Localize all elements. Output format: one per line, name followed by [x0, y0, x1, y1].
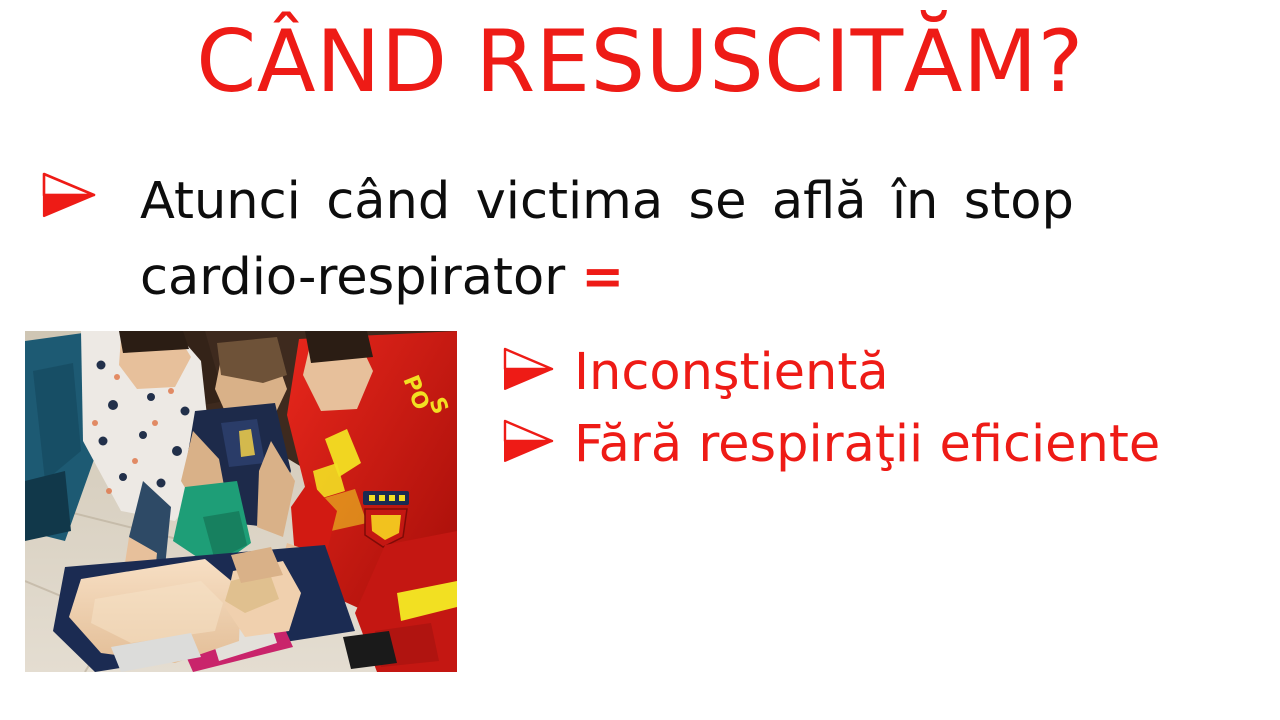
- sub-bullet-label: Fără respiraţii eficiente: [574, 410, 1280, 480]
- main-bullet-line1: Atunci când victima se află în stop: [140, 172, 1074, 231]
- cpr-training-photo: PO S: [25, 331, 457, 672]
- sub-bullet-item-fara-respiratii: Fără respiraţii eficiente: [492, 410, 1280, 482]
- slide: CÂND RESUSCITĂM? Atunci când victima se …: [0, 0, 1280, 720]
- main-bullet-line2-wrap: cardio-respirator =: [140, 240, 1256, 316]
- red-arrowhead-bullet-icon: [500, 419, 556, 463]
- sub-bullet-list: Inconştientă Fără respiraţii eficiente: [492, 338, 1280, 482]
- main-bullet-line2: cardio-respirator: [140, 248, 581, 307]
- red-arrowhead-bullet-icon: [38, 172, 98, 218]
- main-bullet-block: Atunci când victima se află în stop card…: [24, 164, 1256, 316]
- red-arrowhead-bullet-icon: [500, 347, 556, 391]
- sub-bullet-label: Inconştientă: [574, 338, 1280, 408]
- sub-bullet-item-inconstienta: Inconştientă: [492, 338, 1280, 410]
- main-bullet-text: Atunci când victima se află în stop card…: [140, 164, 1256, 316]
- equals-sign: =: [581, 248, 624, 307]
- page-title: CÂND RESUSCITĂM?: [0, 14, 1280, 110]
- main-bullet-row: Atunci când victima se află în stop card…: [24, 164, 1256, 316]
